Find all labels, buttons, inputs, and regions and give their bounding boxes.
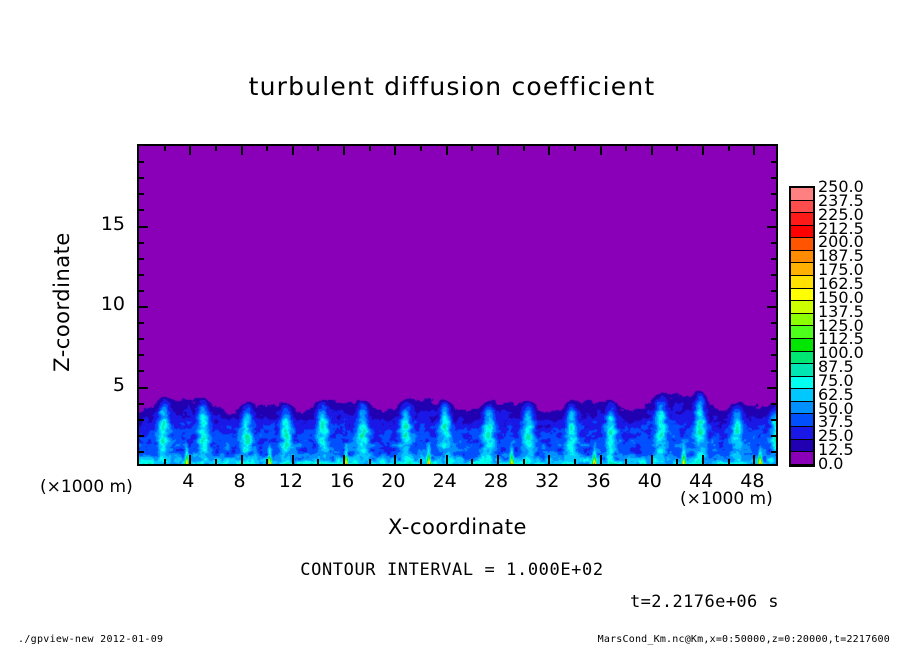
x-axis-tick [394, 455, 396, 464]
y-axis-tick [139, 193, 144, 195]
x-axis-tick [753, 146, 755, 155]
y-axis-tick [139, 209, 144, 211]
x-axis-tick [369, 146, 371, 151]
x-axis-tick [317, 146, 319, 151]
colorbar-band [791, 188, 813, 201]
y-tick-label: 15 [95, 213, 125, 235]
colorbar-band [791, 201, 813, 214]
x-axis-tick [676, 459, 678, 464]
turbulence-field-heatmap [139, 146, 776, 464]
y-axis-tick [139, 258, 144, 260]
x-axis-tick [600, 455, 602, 464]
x-axis-tick [266, 459, 268, 464]
colorbar-band [791, 226, 813, 239]
x-axis-tick [702, 146, 704, 155]
x-axis-tick [420, 146, 422, 151]
footer-source-label: MarsCond_Km.nc@Km,x=0:50000,z=0:20000,t=… [598, 634, 890, 645]
x-tick-label: 8 [217, 470, 263, 492]
page-title: turbulent diffusion coefficient [0, 72, 904, 101]
x-tick-label: 40 [627, 470, 673, 492]
y-axis-tick [139, 403, 144, 405]
y-axis-tick [771, 370, 776, 372]
colorbar-band [791, 402, 813, 415]
x-axis-tick [292, 146, 294, 155]
x-axis-tick [651, 455, 653, 464]
x-units-left-label: (×1000 m) [40, 477, 133, 497]
x-axis-tick [241, 146, 243, 155]
x-axis-tick [343, 455, 345, 464]
y-axis-tick [771, 451, 776, 453]
x-axis-tick [189, 455, 191, 464]
x-axis-tick [497, 455, 499, 464]
colorbar-band [791, 427, 813, 440]
x-axis-tick [266, 146, 268, 151]
x-axis-tick [420, 459, 422, 464]
y-axis-tick [771, 209, 776, 211]
y-axis-tick [139, 451, 144, 453]
colorbar-band [791, 414, 813, 427]
y-axis-tick [139, 274, 144, 276]
x-axis-tick [497, 146, 499, 155]
x-axis-tick [523, 146, 525, 151]
x-axis-tick [625, 459, 627, 464]
y-axis-tick [139, 306, 148, 308]
y-axis-tick [771, 354, 776, 356]
y-axis-tick [139, 370, 144, 372]
time-stamp-label: t=2.2176e+06 s [630, 592, 779, 612]
x-axis-tick [753, 455, 755, 464]
x-axis-tick [548, 455, 550, 464]
x-axis-tick [317, 459, 319, 464]
y-axis-tick [771, 419, 776, 421]
colorbar-band [791, 326, 813, 339]
colorbar-band [791, 301, 813, 314]
x-axis-tick [728, 146, 730, 151]
y-axis-tick [767, 306, 776, 308]
y-axis-tick [139, 322, 144, 324]
y-axis-tick [139, 354, 144, 356]
colorbar-band [791, 289, 813, 302]
y-tick-label: 5 [95, 374, 125, 396]
y-axis-tick [771, 435, 776, 437]
y-axis-tick [139, 338, 144, 340]
x-axis-title: X-coordinate [137, 515, 778, 539]
x-axis-tick [215, 146, 217, 151]
y-axis-tick [771, 274, 776, 276]
colorbar-band [791, 339, 813, 352]
y-axis-tick [767, 226, 776, 228]
x-axis-tick [471, 146, 473, 151]
x-tick-label: 28 [473, 470, 519, 492]
y-axis-tick [139, 177, 144, 179]
y-axis-tick [771, 161, 776, 163]
x-axis-tick [164, 146, 166, 151]
x-axis-tick [651, 146, 653, 155]
y-axis-tick [771, 242, 776, 244]
x-axis-tick [446, 146, 448, 155]
x-tick-label: 32 [524, 470, 570, 492]
colorbar [789, 186, 815, 467]
colorbar-band [791, 452, 813, 465]
colorbar-band [791, 389, 813, 402]
y-axis-tick [139, 290, 144, 292]
colorbar-band [791, 238, 813, 251]
x-axis-tick [394, 146, 396, 155]
y-axis-tick [139, 226, 148, 228]
colorbar-band [791, 352, 813, 365]
x-axis-tick [548, 146, 550, 155]
y-axis-tick [139, 161, 144, 163]
x-axis-tick [600, 146, 602, 155]
y-axis-tick [771, 177, 776, 179]
footer-command-label: ./gpview-new 2012-01-09 [18, 634, 163, 645]
colorbar-band [791, 440, 813, 453]
x-axis-tick [292, 455, 294, 464]
colorbar-band [791, 251, 813, 264]
x-tick-label: 24 [422, 470, 468, 492]
y-axis-title: Z-coordinate [50, 212, 74, 392]
plot-area [137, 144, 778, 466]
x-tick-label: 16 [319, 470, 365, 492]
colorbar-band [791, 213, 813, 226]
y-tick-label: 10 [95, 293, 125, 315]
x-axis-tick [523, 459, 525, 464]
y-axis-tick [771, 193, 776, 195]
y-axis-tick [139, 419, 144, 421]
x-axis-tick [241, 455, 243, 464]
y-axis-tick [771, 403, 776, 405]
y-axis-tick [771, 290, 776, 292]
x-axis-tick [676, 146, 678, 151]
x-axis-tick [343, 146, 345, 155]
x-axis-tick [215, 459, 217, 464]
x-axis-tick [574, 459, 576, 464]
y-axis-tick [139, 435, 144, 437]
y-axis-tick [139, 242, 144, 244]
colorbar-band [791, 377, 813, 390]
colorbar-band [791, 364, 813, 377]
x-units-right-label: (×1000 m) [680, 489, 773, 509]
x-axis-tick [446, 455, 448, 464]
x-axis-tick [164, 459, 166, 464]
x-axis-tick [189, 146, 191, 155]
colorbar-band [791, 276, 813, 289]
x-axis-tick [728, 459, 730, 464]
y-axis-tick [771, 322, 776, 324]
y-axis-tick [139, 387, 148, 389]
x-axis-tick [369, 459, 371, 464]
y-axis-tick [771, 338, 776, 340]
x-tick-label: 20 [370, 470, 416, 492]
colorbar-band [791, 314, 813, 327]
colorbar-band [791, 263, 813, 276]
contour-interval-label: CONTOUR INTERVAL = 1.000E+02 [0, 560, 904, 580]
x-axis-tick [471, 459, 473, 464]
x-axis-tick [702, 455, 704, 464]
y-axis-tick [767, 387, 776, 389]
x-axis-tick [574, 146, 576, 151]
x-tick-label: 4 [165, 470, 211, 492]
colorbar-tick-label: 0.0 [818, 454, 843, 473]
x-tick-label: 36 [576, 470, 622, 492]
x-tick-label: 12 [268, 470, 314, 492]
x-axis-tick [625, 146, 627, 151]
y-axis-tick [771, 258, 776, 260]
